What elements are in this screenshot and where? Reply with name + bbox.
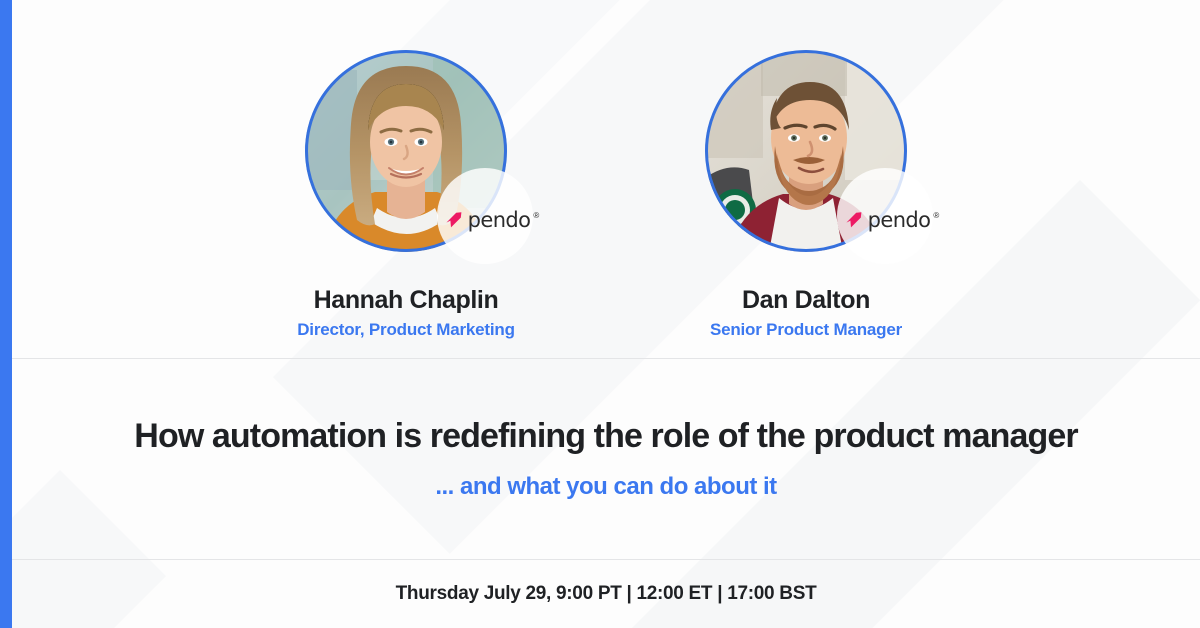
page-subtitle: ... and what you can do about it [435, 473, 776, 501]
pendo-logo-badge: pendo ® [837, 168, 933, 264]
date-block: Thursday July 29, 9:00 PT | 12:00 ET | 1… [12, 560, 1200, 628]
registered-mark: ® [533, 211, 539, 220]
pendo-arrow-icon [443, 209, 465, 231]
event-datetime: Thursday July 29, 9:00 PT | 12:00 ET | 1… [396, 583, 817, 605]
pendo-wordmark: pendo [468, 210, 531, 231]
pendo-arrow-icon [843, 209, 865, 231]
speaker-title: Director, Product Marketing [297, 321, 515, 340]
speaker-name: Hannah Chaplin [314, 287, 499, 315]
pendo-logo-badge: pendo ® [437, 168, 533, 264]
avatar: pendo ® [305, 50, 507, 252]
avatar: pendo ® [705, 50, 907, 252]
page-title: How automation is redefining the role of… [134, 417, 1077, 456]
registered-mark: ® [933, 211, 939, 220]
speakers-row: pendo ® Hannah Chaplin Director, Product… [12, 0, 1200, 358]
speaker-card: pendo ® Hannah Chaplin Director, Product… [256, 50, 556, 339]
speaker-name: Dan Dalton [742, 287, 870, 315]
left-accent-bar [0, 0, 12, 628]
pendo-wordmark: pendo [868, 210, 931, 231]
speaker-card: pendo ® Dan Dalton Senior Product Manage… [656, 50, 956, 339]
webinar-promo-banner: pendo ® Hannah Chaplin Director, Product… [0, 0, 1200, 628]
headline-block: How automation is redefining the role of… [12, 359, 1200, 559]
speaker-title: Senior Product Manager [710, 321, 902, 340]
